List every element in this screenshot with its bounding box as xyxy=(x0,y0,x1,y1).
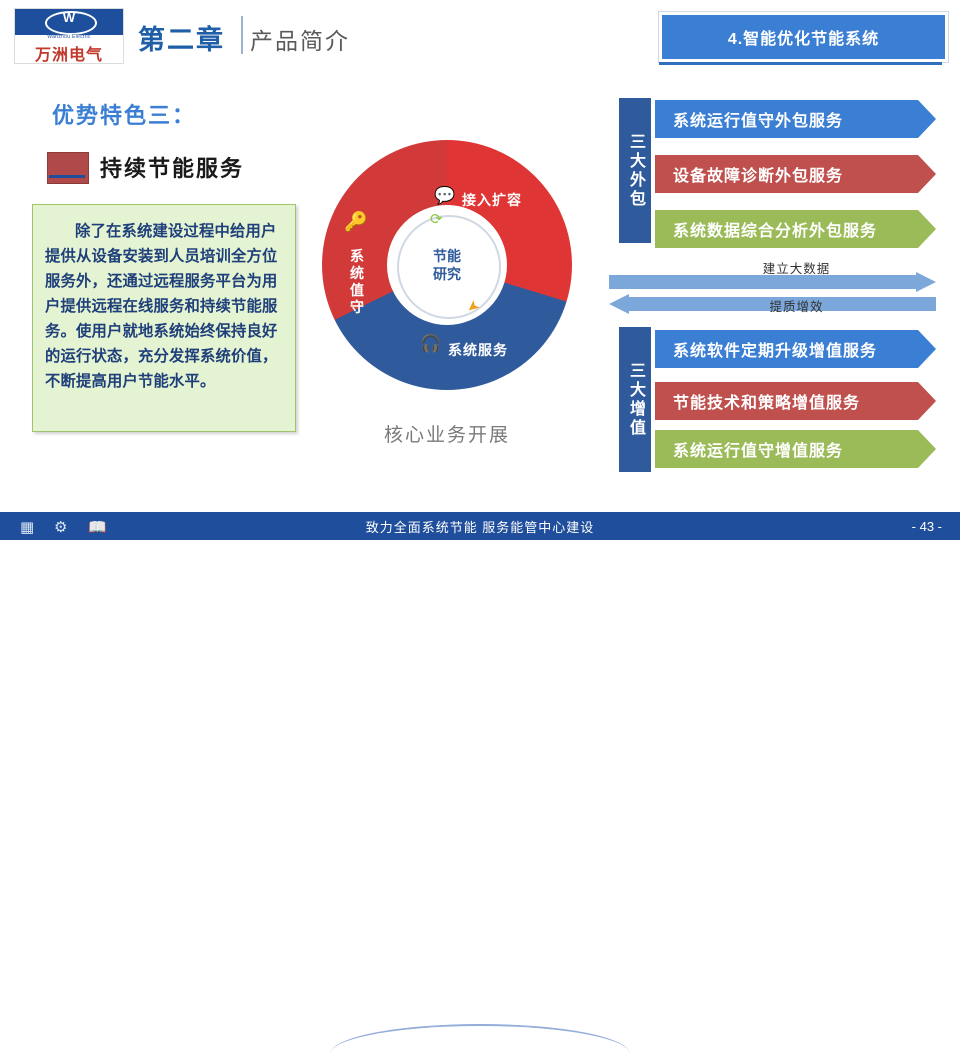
logo-english-name: Wanzhou Electric xyxy=(15,34,123,40)
value-added-item-3: 系统运行值守增值服务 xyxy=(655,430,936,468)
outsourcing-item-1: 系统运行值守外包服务 xyxy=(655,100,936,138)
footer-arc-decoration xyxy=(330,1024,630,1054)
logo-banner: W xyxy=(15,9,123,35)
donut-center-label: 节能 研究 xyxy=(397,215,497,315)
value-added-item-2: 节能技术和策略增值服务 xyxy=(655,382,936,420)
company-logo: W Wanzhou Electric 万洲电气 xyxy=(14,8,124,64)
footer-slogan: 致力全面系统节能 服务能管中心建设 xyxy=(0,512,960,540)
page-footer: ▦ ⚙ 📖 致力全面系统节能 服务能管中心建设 - 43 - xyxy=(0,512,960,540)
chapter-divider xyxy=(241,16,243,54)
tab-value-added-label: 三大增值 xyxy=(625,362,645,438)
mid-label-top: 建立大数据 xyxy=(655,258,938,277)
page-number: - 43 - xyxy=(912,512,942,540)
service-title: 持续节能服务 xyxy=(100,151,244,183)
core-business-donut: ⟳ ➤ 节能 研究 💬 接入扩容 🔑 系统值守 🎧 系统服务 xyxy=(322,140,572,390)
logo-wordmark: W xyxy=(15,10,123,25)
tab-value-added: 三大增值 xyxy=(619,327,651,472)
description-note-text: 除了在系统建设过程中给用户提供从设备安装到人员培训全方位服务外，还通过远程服务平… xyxy=(33,205,295,394)
donut-center-line2: 研究 xyxy=(433,265,461,283)
chat-icon: 💬 xyxy=(434,186,455,206)
logo-chinese-name: 万洲电气 xyxy=(15,41,123,65)
headset-icon: 🎧 xyxy=(420,334,441,354)
chapter-subtitle: 产品简介 xyxy=(250,22,350,56)
outsourcing-item-2: 设备故障诊断外包服务 xyxy=(655,155,936,193)
donut-center-line1: 节能 xyxy=(433,247,461,265)
donut-caption: 核心业务开展 xyxy=(322,420,572,447)
page-header: W Wanzhou Electric 万洲电气 第二章 产品简介 4.智能优化节… xyxy=(0,0,960,70)
tab-outsourcing: 三大外包 xyxy=(619,98,651,243)
value-added-item-1: 系统软件定期升级增值服务 xyxy=(655,330,936,368)
bullet-square-icon xyxy=(47,152,89,184)
mid-label-bottom: 提质增效 xyxy=(655,296,938,315)
advantage-title: 优势特色三： xyxy=(52,98,196,130)
key-icon: 🔑 xyxy=(344,210,368,234)
section-banner-underline xyxy=(659,62,942,65)
donut-segment-label-1: 接入扩容 xyxy=(462,190,522,210)
bullet-underline xyxy=(49,175,85,178)
chapter-title: 第二章 xyxy=(138,18,225,57)
description-note: 除了在系统建设过程中给用户提供从设备安装到人员培训全方位服务外，还通过远程服务平… xyxy=(32,204,296,432)
donut-segment-label-2: 系统值守 xyxy=(350,248,370,316)
arrow-right-icon xyxy=(609,272,936,292)
section-banner: 4.智能优化节能系统 xyxy=(659,12,948,62)
tab-outsourcing-label: 三大外包 xyxy=(625,133,645,209)
outsourcing-item-3: 系统数据综合分析外包服务 xyxy=(655,210,936,248)
donut-segment-label-3: 系统服务 xyxy=(448,340,508,360)
section-banner-label: 4.智能优化节能系统 xyxy=(662,15,945,59)
